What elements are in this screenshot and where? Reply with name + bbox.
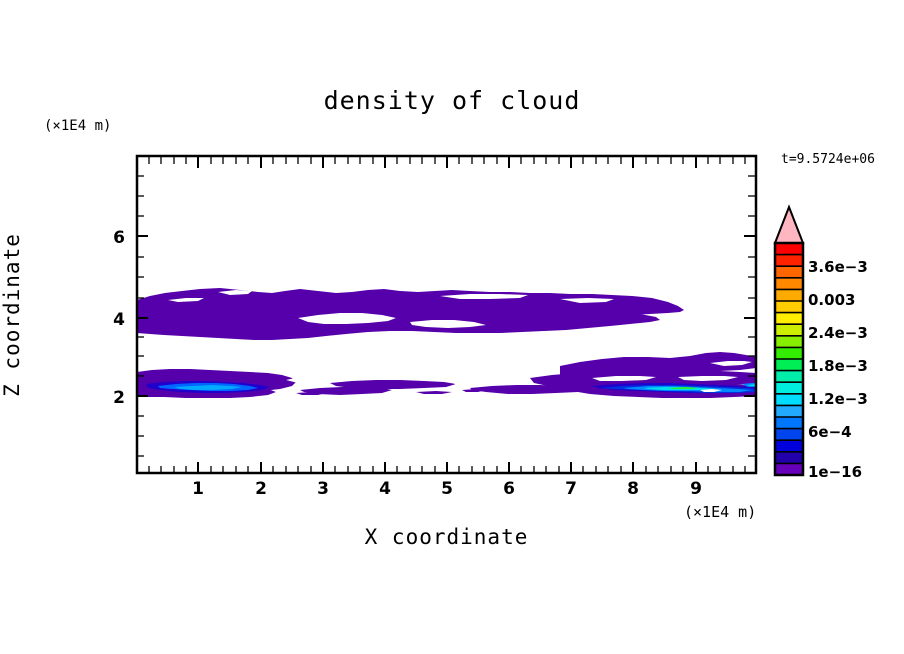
colorbar-label: 3.6e−3 bbox=[808, 258, 868, 276]
colorbar-label: 2.4e−3 bbox=[808, 324, 868, 342]
colorbar-label: 1.2e−3 bbox=[808, 390, 868, 408]
colorbar-overflow-arrow bbox=[775, 207, 803, 243]
colorbar-label: 6e−4 bbox=[808, 423, 852, 441]
colorbar[interactable] bbox=[0, 0, 904, 654]
colorbar-label: 1e−16 bbox=[808, 463, 862, 481]
colorbar-label: 0.003 bbox=[808, 291, 855, 309]
colorbar-label: 1.8e−3 bbox=[808, 357, 868, 375]
figure-canvas: density of cloud (×1E4 m) t=9.5724e+06 Z… bbox=[0, 0, 904, 654]
